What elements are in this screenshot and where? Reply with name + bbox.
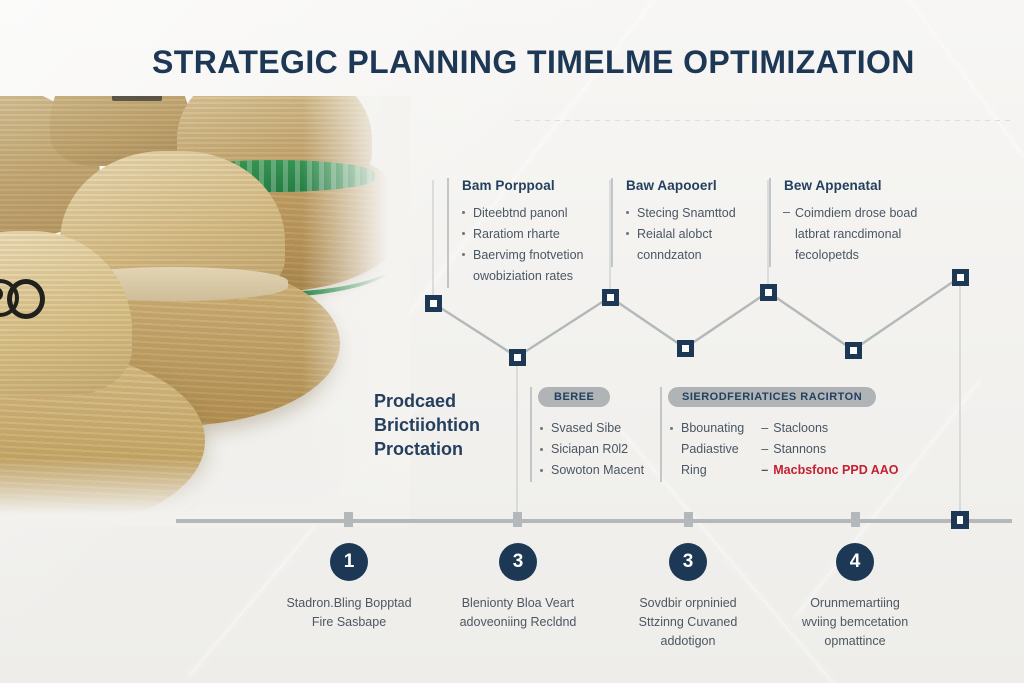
list-item: Baervimg fnotvetion: [462, 246, 622, 264]
list-item: Reialal alobct: [626, 225, 776, 243]
list-item: Coimdiem drose boad: [784, 204, 949, 222]
list-item: Sowoton Macent: [540, 461, 644, 480]
chart-node[interactable]: [952, 269, 969, 286]
list-item: Raratiom rharte: [462, 225, 622, 243]
chart-node[interactable]: [425, 295, 442, 312]
step-number: 3: [499, 543, 537, 581]
list-item: Stannons: [762, 440, 898, 459]
annotation-card-2: Baw Aapooerl Stecing Snamttod Reialal al…: [611, 178, 776, 267]
chart-node[interactable]: [760, 284, 777, 301]
timeline-baseline: [176, 519, 1012, 523]
list-item-alert: Macbsfonc PPD AAO: [762, 461, 898, 480]
list-item: Stecing Snamttod: [626, 204, 776, 222]
hat-logo-icon: [0, 277, 37, 311]
step-caption-line: Sovdbir orpninied: [598, 594, 778, 613]
step-caption-line: Sttzinng Cuvaned: [598, 613, 778, 632]
zigzag-polyline: [433, 277, 960, 357]
step-caption-line: opmattince: [765, 632, 945, 651]
annotation-card-1: Bam Porppoal Diteebtnd panonl Raratiom r…: [447, 178, 622, 288]
timeline-tick[interactable]: [851, 512, 860, 527]
list-item: Ring: [670, 461, 744, 480]
step-number: 3: [669, 543, 707, 581]
step-caption: Orunmemartiing wviing bemcetation opmatt…: [765, 594, 945, 651]
card-list: Diteebtnd panonl Raratiom rharte Baervim…: [462, 204, 622, 285]
card-title: Baw Aapooerl: [626, 178, 776, 193]
mid-heading-line-2: Brictiiohtion: [374, 413, 514, 437]
list-item: Stacloons: [762, 419, 898, 438]
list-item: Diteebtnd panonl: [462, 204, 622, 222]
mid-heading-line-3: Proctation: [374, 437, 514, 461]
chart-node[interactable]: [845, 342, 862, 359]
step-caption-line: wviing bemcetation: [765, 613, 945, 632]
timeline-end-node[interactable]: [951, 511, 969, 529]
list-item: Siciapan R0l2: [540, 440, 644, 459]
step-caption: Blenionty Bloa Veart adoveoniing Recldnd: [428, 594, 608, 632]
list-item: Bbounating: [670, 419, 744, 438]
step-caption: Stadron.Bling Bopptad Fire Sasbape: [259, 594, 439, 632]
list-item: Svased Sibe: [540, 419, 644, 438]
status-badge: BEREE: [538, 387, 610, 407]
card-list: Stecing Snamttod Reialal alobct conndzat…: [626, 204, 776, 264]
timeline-step-1[interactable]: 1 Stadron.Bling Bopptad Fire Sasbape: [259, 543, 439, 632]
timeline-tick[interactable]: [513, 512, 522, 527]
step-caption-line: Blenionty Bloa Veart: [428, 594, 608, 613]
mid-list-left: Bbounating Padiastive Ring: [670, 419, 744, 482]
infographic-canvas: STRATEGIC PLANNING TIMELME OPTIMIZATION …: [0, 0, 1024, 683]
step-caption-line: adoveoniing Recldnd: [428, 613, 608, 632]
list-item: owobiziation rates: [462, 267, 622, 285]
mid-heading-line-1: Prodcaed: [374, 389, 514, 413]
list-item: latbrat rancdimonal: [784, 225, 949, 243]
mid-block-1: BEREE Svased Sibe Siciapan R0l2 Sowoton …: [530, 387, 652, 482]
timeline-tick[interactable]: [344, 512, 353, 527]
mid-section-heading: Prodcaed Brictiiohtion Proctation: [374, 389, 514, 461]
list-item: Padiastive: [670, 440, 744, 459]
timeline-step-4[interactable]: 4 Orunmemartiing wviing bemcetation opma…: [765, 543, 945, 651]
list-item: conndzaton: [626, 246, 776, 264]
title-divider: [515, 120, 1012, 121]
timeline-step-2[interactable]: 3 Blenionty Bloa Veart adoveoniing Recld…: [428, 543, 608, 632]
step-number: 4: [836, 543, 874, 581]
mid-list: Svased Sibe Siciapan R0l2 Sowoton Macent: [540, 419, 644, 482]
chart-node[interactable]: [602, 289, 619, 306]
card-title: Bam Porppoal: [462, 178, 622, 193]
straw-hats-photo: [0, 96, 410, 526]
step-caption-line: addotigon: [598, 632, 778, 651]
step-caption-line: Orunmemartiing: [765, 594, 945, 613]
card-title: Bew Appenatal: [784, 178, 949, 193]
chart-node[interactable]: [677, 340, 694, 357]
mid-list-right: Stacloons Stannons Macbsfonc PPD AAO: [762, 419, 898, 482]
card-list: Coimdiem drose boad latbrat rancdimonal …: [784, 204, 949, 264]
timeline-step-3[interactable]: 3 Sovdbir orpninied Sttzinng Cuvaned add…: [598, 543, 778, 651]
mid-block-2: SIERODFERIATICES RACIRTON Bbounating Pad…: [660, 387, 910, 482]
list-item: fecolopetds: [784, 246, 949, 264]
timeline-tick[interactable]: [684, 512, 693, 527]
mid-block-2-lists: Bbounating Padiastive Ring Stacloons Sta…: [662, 419, 910, 482]
step-caption-line: Stadron.Bling Bopptad: [259, 594, 439, 613]
page-title: STRATEGIC PLANNING TIMELME OPTIMIZATION: [152, 44, 915, 81]
status-badge: SIERODFERIATICES RACIRTON: [668, 387, 876, 407]
step-caption-line: Fire Sasbape: [259, 613, 439, 632]
step-caption: Sovdbir orpninied Sttzinng Cuvaned addot…: [598, 594, 778, 651]
annotation-card-3: Bew Appenatal Coimdiem drose boad latbra…: [769, 178, 949, 267]
mid-block-1-lists: Svased Sibe Siciapan R0l2 Sowoton Macent: [532, 419, 652, 482]
chart-node[interactable]: [509, 349, 526, 366]
step-number: 1: [330, 543, 368, 581]
